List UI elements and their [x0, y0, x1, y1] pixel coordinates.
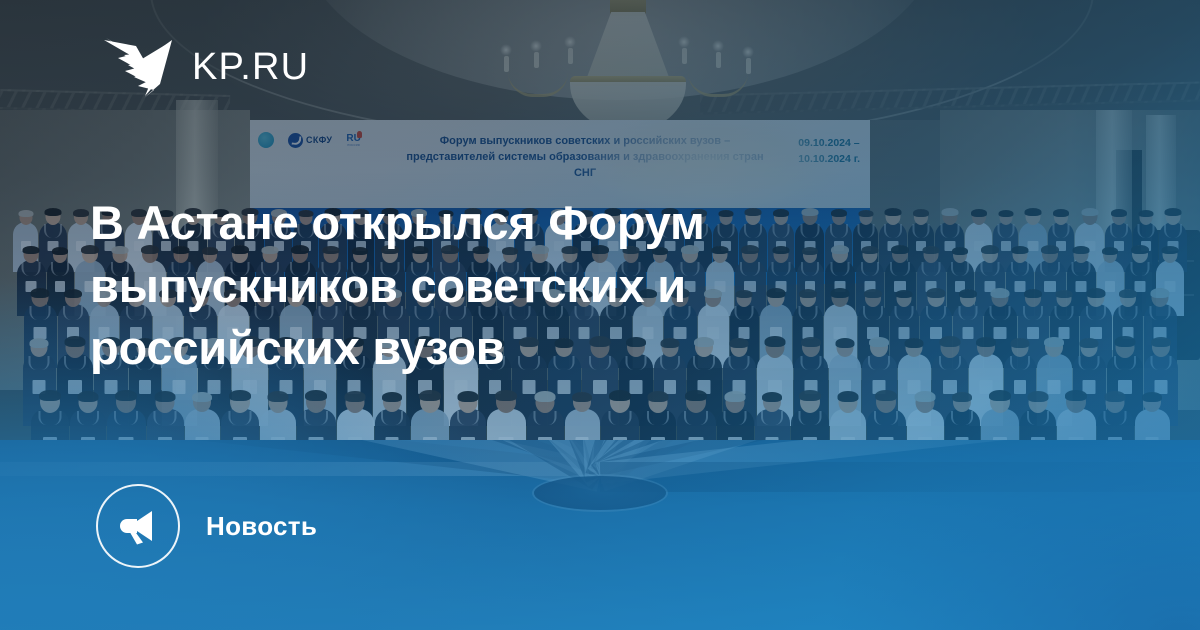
status-badge[interactable]: Новость — [96, 484, 317, 568]
news-share-card: СКФУ RU РОССИЯ Форум выпускников советск… — [0, 0, 1200, 630]
brand-logo[interactable]: KP.RU — [104, 34, 309, 100]
brand-name: KP.RU — [192, 48, 309, 86]
badge-label: Новость — [206, 511, 317, 542]
megaphone-icon — [118, 506, 158, 546]
swallow-bird-icon — [104, 34, 172, 100]
badge-icon-circle — [96, 484, 180, 568]
page-title: В Астане открылся Форум выпускников сове… — [90, 192, 920, 380]
